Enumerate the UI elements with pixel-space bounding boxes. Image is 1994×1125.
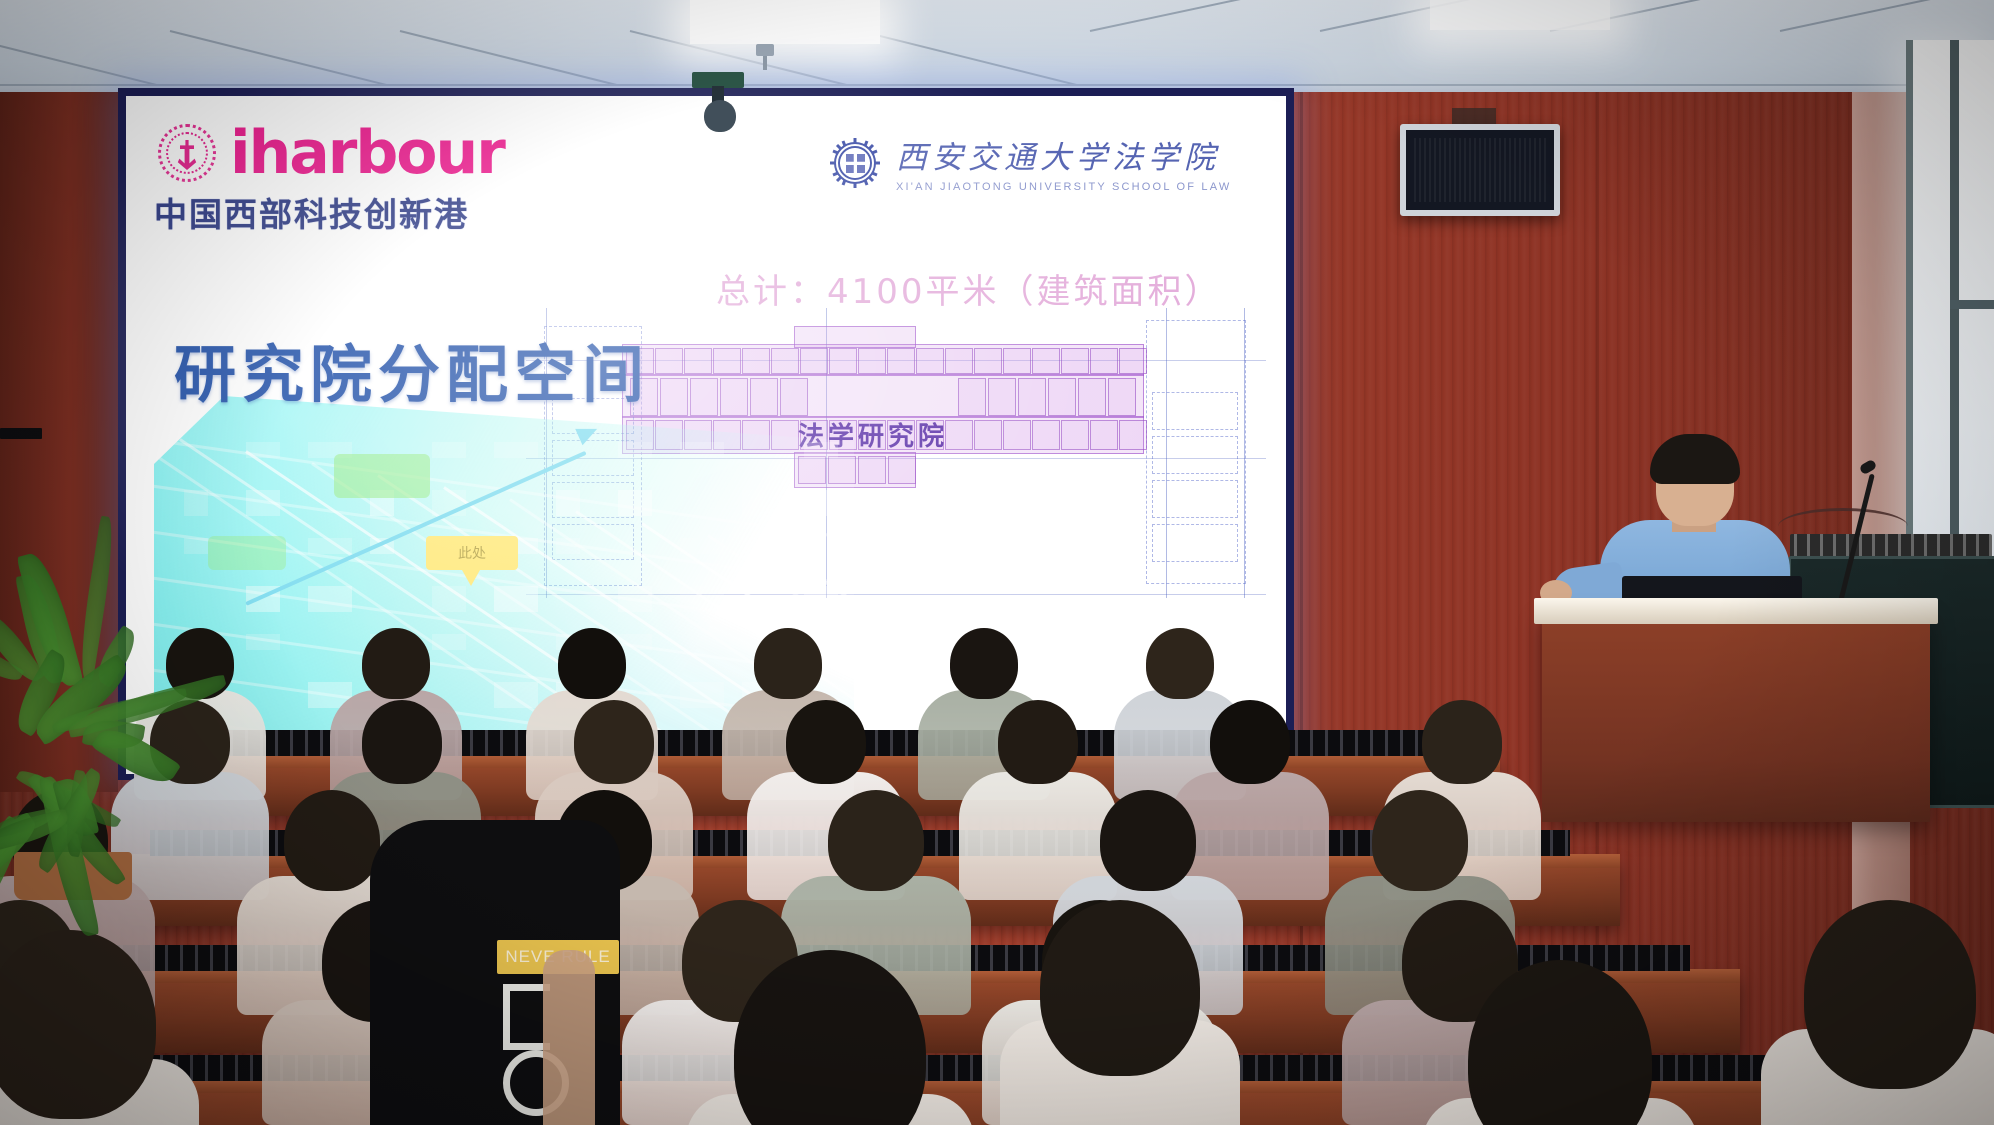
plan-room [974,348,1002,374]
foreground-attendee-head [1040,900,1200,1076]
plan-room [690,378,718,416]
xjtu-law-logo: 西安交通大学法学院 XI'AN JIAOTONG UNIVERSITY SCHO… [826,132,1231,193]
plan-wing-cell [1152,524,1238,562]
projector-lens [704,100,736,132]
lecture-hall-scene: iharbour 中国西部科技创新港 [0,0,1994,1125]
slide-title: 研究院分配空间 [174,324,650,414]
plan-room [829,348,857,374]
audience-member-head [284,790,380,891]
plan-room [858,456,886,484]
foreground-attendee-head [1804,900,1976,1089]
plan-room [780,378,808,416]
map-block [246,634,280,650]
map-block [308,538,352,554]
audience-member-head [362,628,430,699]
map-block [246,490,280,516]
plan-room [916,348,944,374]
xjtu-law-english: XI'AN JIAOTONG UNIVERSITY SCHOOL OF LAW [896,181,1231,193]
audience-member-head [1422,700,1502,784]
wall-mounted-speaker [1400,124,1560,216]
plan-room [1090,348,1118,374]
map-green-area [334,454,430,498]
plan-wing-cell [1152,480,1238,518]
map-block [618,586,652,612]
xjtu-law-chinese: 西安交通大学法学院 [896,132,1231,177]
plan-room [945,420,973,450]
ceiling-light-panel [690,0,880,44]
plan-room [888,456,916,484]
map-block [432,586,466,612]
plan-wing-cell [1152,436,1238,474]
plan-room [988,378,1016,416]
map-block [804,442,838,458]
plan-room [1003,348,1031,374]
wall-black-bar [0,428,42,439]
plan-room [1119,420,1147,450]
audience-member-head [950,628,1018,699]
plan-room [974,420,1002,450]
ceiling-light-panel-2 [1430,0,1610,30]
map-block [680,442,724,458]
plan-room [945,348,973,374]
plan-room [1048,378,1076,416]
plan-room [1061,420,1089,450]
map-block [742,538,766,554]
map-block [680,682,724,708]
iharbour-subtitle: 中国西部科技创新港 [154,188,524,236]
plan-room [1032,420,1060,450]
map-block [618,634,652,650]
iharbour-logo: iharbour 中国西部科技创新港 [154,120,524,236]
plan-room [1018,378,1046,416]
audience-member-head [1210,700,1290,784]
podium-surface [1534,598,1938,624]
plan-room [1108,378,1136,416]
gear-emblem-icon [826,134,884,192]
plan-room [684,348,712,374]
window-mullion-horizontal [1950,300,1994,309]
plan-room [660,378,688,416]
plan-room [858,348,886,374]
audience-member-head [1100,790,1196,891]
projection-screen[interactable]: iharbour 中国西部科技创新港 [126,96,1286,774]
plan-band-stub-top [794,326,916,348]
plan-room [750,378,778,416]
foreground-attendee-arm [543,950,595,1125]
anchor-emblem-icon [154,120,220,186]
audience-member-head [998,700,1078,784]
plan-room [655,348,683,374]
map-block [804,586,838,612]
map-block [556,538,580,554]
map-block [618,490,652,516]
plan-room [1061,348,1089,374]
map-block [680,538,724,554]
audience-member-head [1372,790,1468,891]
map-block [494,442,538,458]
map-block [432,442,466,458]
map-block [184,538,208,554]
plan-room [1032,348,1060,374]
map-block [432,634,466,650]
potted-plant [0,520,180,900]
audience-member-head [558,628,626,699]
map-green-area-2 [208,536,286,570]
map-callout-marker: 此处 [426,536,518,570]
plan-room [1090,420,1118,450]
plan-room [713,348,741,374]
map-block [556,490,580,516]
audience-member-head [828,790,924,891]
map-block [494,682,538,708]
audience-member-head [362,700,442,784]
plan-wing-cell [1152,392,1238,430]
map-block [308,586,352,612]
plan-room [1119,348,1147,374]
iharbour-wordmark: iharbour [230,126,504,180]
map-block [742,490,766,516]
map-block [494,586,538,612]
audience-member-head [1146,628,1214,699]
ceiling-sensor-stem [763,56,767,70]
plan-room [887,348,915,374]
speaker-grill [1414,138,1546,202]
plan-room [1078,378,1106,416]
plan-total-label: 总计：4100平米（建筑面积） [716,264,1222,313]
map-block [680,586,724,612]
ceiling-sensor [756,44,774,56]
plan-room [742,348,770,374]
audience-member-head [574,700,654,784]
map-block [184,490,208,516]
plan-room [1003,420,1031,450]
map-block [246,442,280,458]
plan-room [800,348,828,374]
presentation-slide: iharbour 中国西部科技创新港 [126,96,1286,774]
audience-member-head [754,628,822,699]
plan-room [720,378,748,416]
map-block [618,442,652,458]
plan-room [771,348,799,374]
map-block [804,490,838,516]
wooden-podium [1542,612,1930,822]
map-callout-label: 此处 [426,536,518,570]
plan-room [958,378,986,416]
audience-member-head [786,700,866,784]
